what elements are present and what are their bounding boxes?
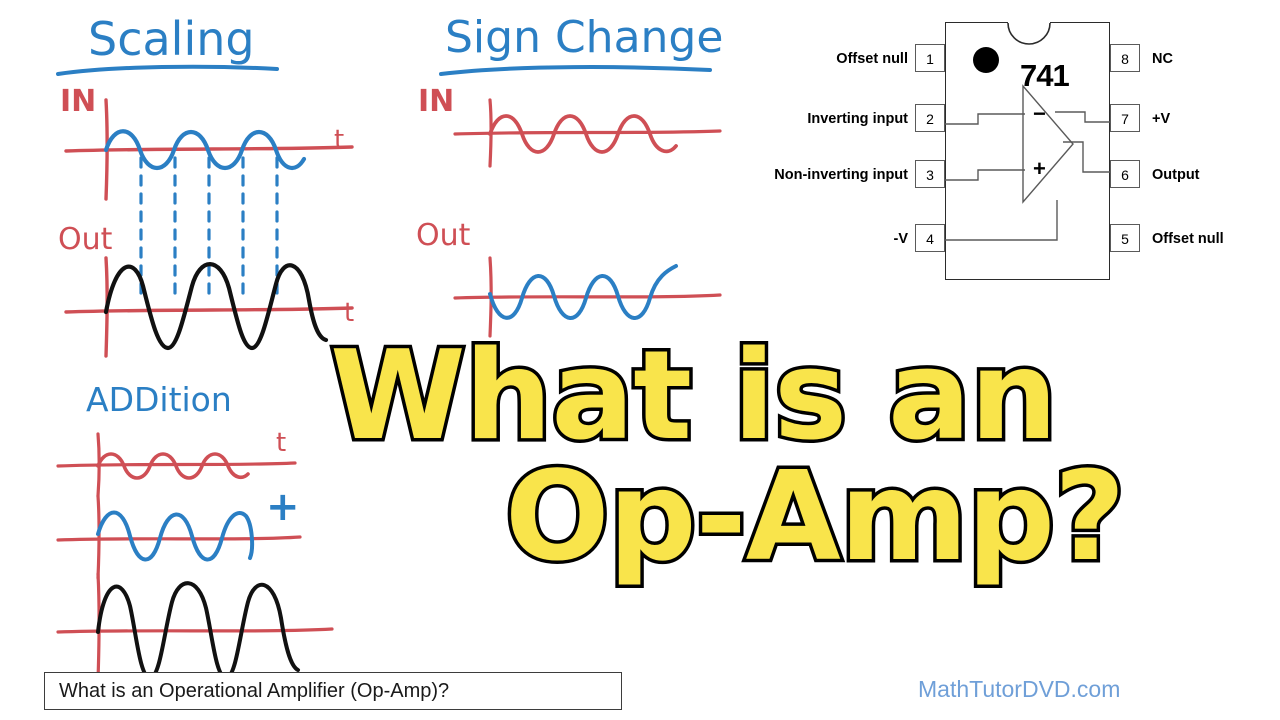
pin-number-6: 6 [1111,161,1139,189]
pin-number-5: 5 [1111,225,1139,253]
pin-label-6: Output [1152,167,1280,183]
pin-box-3: 3 [915,160,945,188]
pin-box-1: 1 [915,44,945,72]
pin-box-2: 2 [915,104,945,132]
noninverting-input-sign: + [1033,158,1046,180]
opamp-741-pinout-diagram: 741 − + 1 Offset null [730,0,1280,300]
scaling-output-graph [40,240,370,365]
addition-heading: ADDition [86,380,232,419]
sign-change-section: Sign Change IN Out [400,0,740,340]
pin-box-7: 7 [1110,104,1140,132]
scaling-heading-underline [55,62,285,82]
addition-section: ADDition t + [0,380,340,680]
page-title: What is an Op-Amp? [330,337,1230,578]
pin-number-4: 4 [916,225,944,253]
addition-sum-graph [40,566,340,686]
scaling-input-axis-label: t [334,125,344,155]
video-thumbnail-canvas: Scaling IN t Out [0,0,1280,720]
sign-change-output-label: Out [416,218,470,253]
sign-change-heading: Sign Change [445,12,723,63]
addition-wave2-x-axis [58,537,300,540]
pin-label-3: Non-inverting input [730,167,908,183]
pin-box-8: 8 [1110,44,1140,72]
pin-number-3: 3 [916,161,944,189]
scaling-section: Scaling IN t Out [0,0,380,360]
pin-number-8: 8 [1111,45,1139,73]
pin-label-8: NC [1152,51,1280,67]
pin-box-6: 6 [1110,160,1140,188]
pin-label-4: -V [730,231,908,247]
pin-number-2: 2 [916,105,944,133]
scaling-output-waveform [106,264,326,348]
pin-box-5: 5 [1110,224,1140,252]
watermark: MathTutorDVD.com [918,676,1120,703]
ic-internal-schematic [945,22,1115,284]
sign-change-output-waveform [490,266,676,318]
sign-change-heading-underline [438,62,718,82]
page-title-line2: Op-Amp? [505,458,1230,579]
pin-label-1: Offset null [730,51,908,67]
scaling-output-axis-label: t [344,298,354,328]
pin-label-7: +V [1152,111,1280,127]
inverting-input-sign: − [1033,103,1046,125]
pin-label-2: Inverting input [730,111,908,127]
scaling-heading: Scaling [88,12,255,66]
pin-label-5: Offset null [1152,231,1280,247]
amplifier-triangle [1023,86,1073,202]
addition-wave2-waveform [98,513,252,560]
pin-number-1: 1 [916,45,944,73]
caption-box: What is an Operational Amplifier (Op-Amp… [44,672,622,710]
pin-number-7: 7 [1111,105,1139,133]
addition-axis-label-top: t [276,428,286,458]
caption-text: What is an Operational Amplifier (Op-Amp… [59,680,449,703]
pin-box-4: 4 [915,224,945,252]
sign-change-input-graph [420,90,740,170]
